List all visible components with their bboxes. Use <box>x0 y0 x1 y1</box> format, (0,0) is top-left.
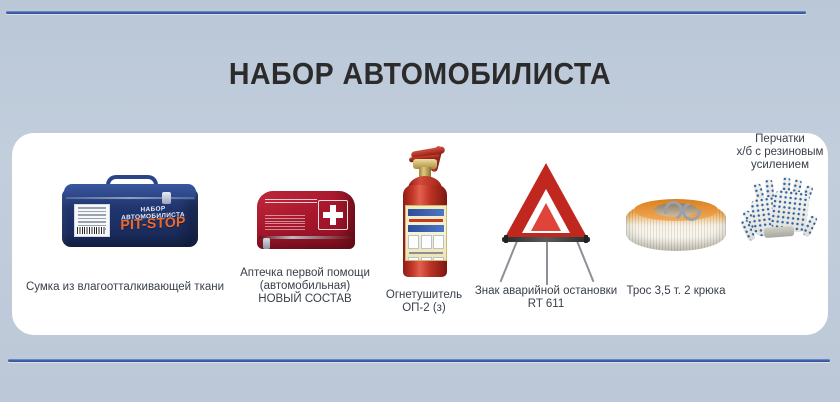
product-panel: НАБОР АВТОМОБИЛИСТА PIT-STOP Сумка из вл… <box>12 133 828 335</box>
fire-extinguisher-icon <box>399 143 451 278</box>
caption-warning-triangle: Знак аварийной остановки RT 611 <box>472 285 620 311</box>
product-item-first-aid[interactable]: Аптечка первой помощи (автомобильная) НО… <box>234 133 376 335</box>
bag-zipper <box>66 197 194 199</box>
page-title: НАБОР АВТОМОБИЛИСТА <box>34 56 807 92</box>
caption-first-aid-line1: Аптечка первой помощи <box>234 267 376 280</box>
caption-triangle-line1: Знак аварийной остановки <box>472 285 620 298</box>
glove-cuff <box>764 226 795 238</box>
warning-triangle-icon <box>496 163 596 275</box>
car-kit-bag-icon: НАБОР АВТОМОБИЛИСТА PIT-STOP <box>62 175 198 247</box>
triangle-reflector <box>531 203 561 231</box>
triangle-foot-right <box>584 235 588 243</box>
extinguisher-label <box>405 205 447 261</box>
caption-gloves: Перчатки х/б с резиновым усилением <box>732 133 828 172</box>
barcode-icon <box>77 227 105 234</box>
caption-tow-strap: Трос 3,5 т. 2 крюка <box>620 285 732 298</box>
caption-extinguisher: Огнетушитель ОП-2 (з) <box>376 289 472 315</box>
product-item-gloves[interactable]: Перчатки х/б с резиновым усилением <box>732 133 828 335</box>
caption-first-aid-line3: НОВЫЙ СОСТАВ <box>234 293 376 306</box>
first-aid-body <box>257 191 355 249</box>
triangle-foot-left <box>504 235 508 243</box>
caption-bag: Сумка из влагоотталкивающей ткани <box>14 281 236 294</box>
caption-gloves-line2: х/б с резиновым <box>732 146 828 159</box>
bottom-divider-rule <box>8 359 830 362</box>
triangle-leg-left <box>500 241 518 282</box>
caption-first-aid-line2: (автомобильная) <box>234 280 376 293</box>
first-aid-zipper-pull-icon <box>263 238 270 249</box>
triangle-base-bar <box>502 237 590 242</box>
work-gloves-icon <box>742 175 818 257</box>
product-item-extinguisher[interactable]: Огнетушитель ОП-2 (з) <box>376 133 472 335</box>
product-item-tow-strap[interactable]: Трос 3,5 т. 2 крюка <box>620 133 732 335</box>
product-item-warning-triangle[interactable]: Знак аварийной остановки RT 611 <box>472 133 620 335</box>
product-list: НАБОР АВТОМОБИЛИСТА PIT-STOP Сумка из вл… <box>12 133 828 335</box>
caption-first-aid: Аптечка первой помощи (автомобильная) НО… <box>234 267 376 306</box>
triangle-leg-mid <box>546 241 548 285</box>
first-aid-zipper <box>259 236 353 239</box>
caption-gloves-line3: усилением <box>732 159 828 172</box>
triangle-leg-right <box>576 241 594 282</box>
first-aid-contact-text <box>265 215 305 232</box>
top-divider-rule <box>6 11 806 14</box>
first-aid-title-text <box>265 199 317 205</box>
caption-extinguisher-line2: ОП-2 (з) <box>376 302 472 315</box>
bag-zipper-pull-icon <box>162 192 171 204</box>
caption-extinguisher-line1: Огнетушитель <box>376 289 472 302</box>
product-item-bag[interactable]: НАБОР АВТОМОБИЛИСТА PIT-STOP Сумка из вл… <box>14 133 236 335</box>
caption-gloves-line1: Перчатки <box>732 133 828 146</box>
caption-triangle-line2: RT 611 <box>472 298 620 311</box>
first-aid-kit-icon <box>257 191 355 253</box>
tow-strap-coil-icon <box>626 195 726 257</box>
medical-cross-icon <box>318 200 348 230</box>
